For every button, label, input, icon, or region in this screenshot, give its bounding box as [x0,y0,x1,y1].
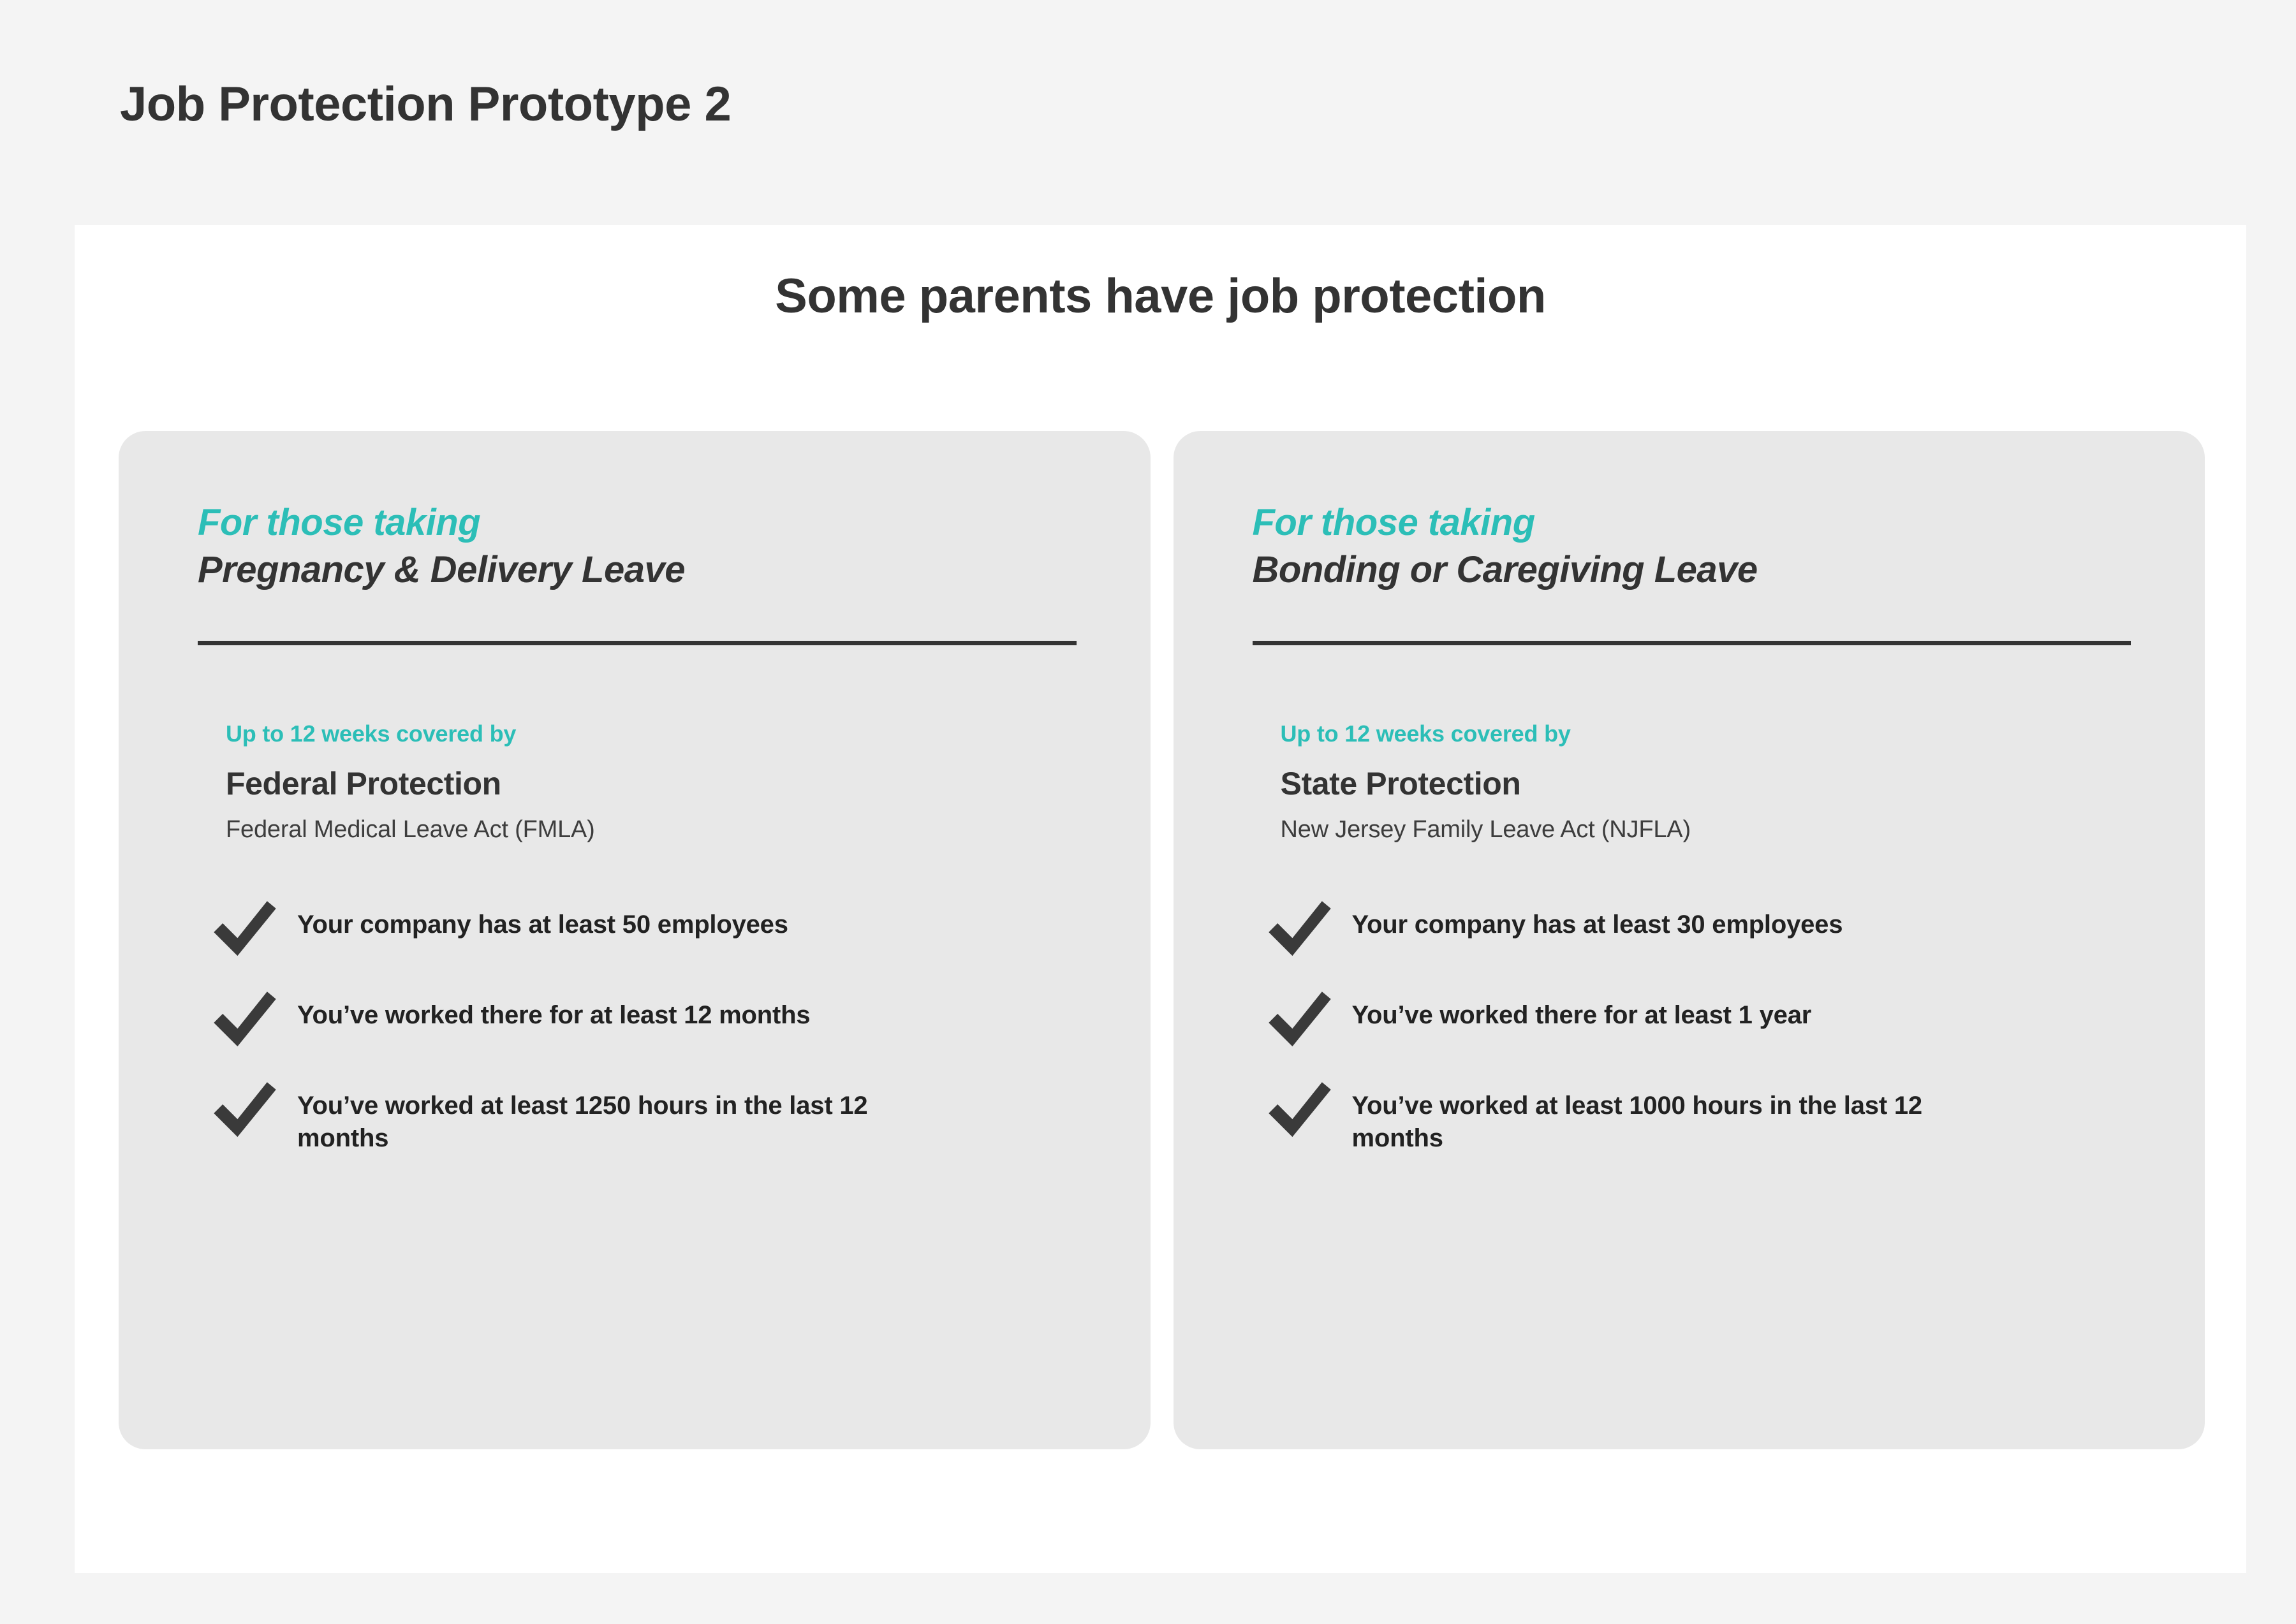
check-icon [1263,891,1337,965]
list-item: Your company has at least 50 employees [208,895,1106,971]
list-item: You’ve worked there for at least 1 year [1263,985,2161,1062]
protection-name: Federal Protection [226,765,1106,802]
card-bonding-caregiving-leave: For those taking Bonding or Caregiving L… [1174,431,2205,1449]
list-item: You’ve worked at least 1000 hours in the… [1263,1076,2161,1155]
requirement-text: You’ve worked at least 1000 hours in the… [1352,1076,1996,1155]
requirements-list: Your company has at least 30 employees Y… [1263,895,2161,1155]
covered-duration-label: Up to 12 weeks covered by [1281,721,2161,747]
protection-act-name: New Jersey Family Leave Act (NJFLA) [1281,816,2161,844]
list-item: You’ve worked there for at least 12 mont… [208,985,1106,1062]
protection-name: State Protection [1281,765,2161,802]
page-root: Job Protection Prototype 2 Some parents … [0,0,2296,1624]
page-title: Job Protection Prototype 2 [120,77,731,132]
card-divider [198,641,1077,645]
list-item: You’ve worked at least 1250 hours in the… [208,1076,1106,1155]
requirement-text: You’ve worked there for at least 12 mont… [297,985,810,1032]
check-icon [1263,1072,1337,1146]
check-icon [208,981,282,1055]
requirement-text: Your company has at least 50 employees [297,895,788,941]
card-leave-type: Pregnancy & Delivery Leave [198,548,1106,592]
card-divider [1253,641,2131,645]
check-icon [208,1072,282,1146]
requirement-text: You’ve worked at least 1250 hours in the… [297,1076,941,1155]
check-icon [1263,981,1337,1055]
check-icon [208,891,282,965]
requirements-list: Your company has at least 50 employees Y… [208,895,1106,1155]
cards-row: For those taking Pregnancy & Delivery Le… [119,431,2205,1449]
panel-heading: Some parents have job protection [75,268,2246,324]
requirement-text: You’ve worked there for at least 1 year [1352,985,1812,1032]
requirement-text: Your company has at least 30 employees [1352,895,1843,941]
list-item: Your company has at least 30 employees [1263,895,2161,971]
card-leave-type: Bonding or Caregiving Leave [1253,548,2161,592]
card-eyebrow: For those taking [1253,501,2161,545]
covered-duration-label: Up to 12 weeks covered by [226,721,1106,747]
protection-act-name: Federal Medical Leave Act (FMLA) [226,816,1106,844]
content-panel: Some parents have job protection For tho… [75,225,2246,1573]
card-pregnancy-delivery-leave: For those taking Pregnancy & Delivery Le… [119,431,1151,1449]
card-eyebrow: For those taking [198,501,1106,545]
